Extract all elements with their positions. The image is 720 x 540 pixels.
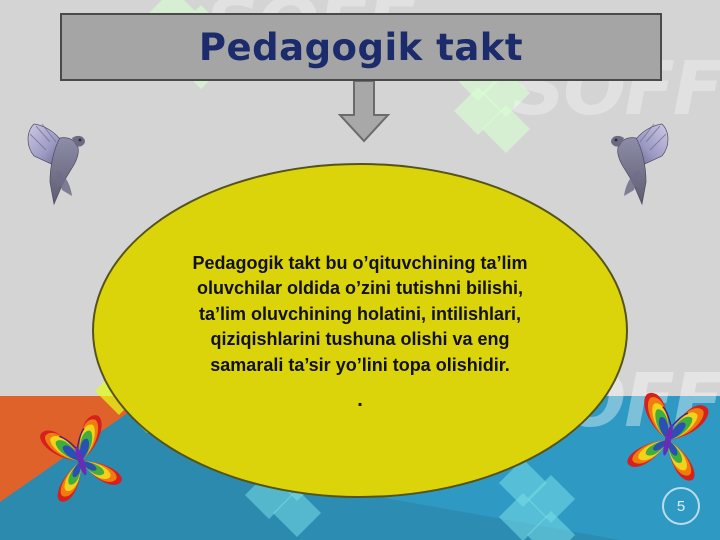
slide: SOFF SOFF SOFF SOFF Pedagogik takt [0, 0, 720, 540]
dove-icon [20, 112, 90, 212]
callout-ellipse: Pedagogik takt bu o’qituvchining ta’lim … [92, 163, 628, 498]
dove-icon [606, 112, 676, 212]
page-title: Pedagogik takt [199, 26, 523, 69]
arrow-down-icon [336, 81, 392, 143]
slide-number-value: 5 [677, 498, 685, 515]
butterfly-icon [35, 415, 127, 505]
callout-body-text: Pedagogik takt bu o’qituvchining ta’lim … [145, 251, 575, 379]
callout-trailing-mark: . [357, 390, 363, 410]
title-banner: Pedagogik takt [60, 13, 662, 81]
butterfly-icon [622, 392, 714, 487]
slide-number-badge: 5 [662, 487, 700, 525]
